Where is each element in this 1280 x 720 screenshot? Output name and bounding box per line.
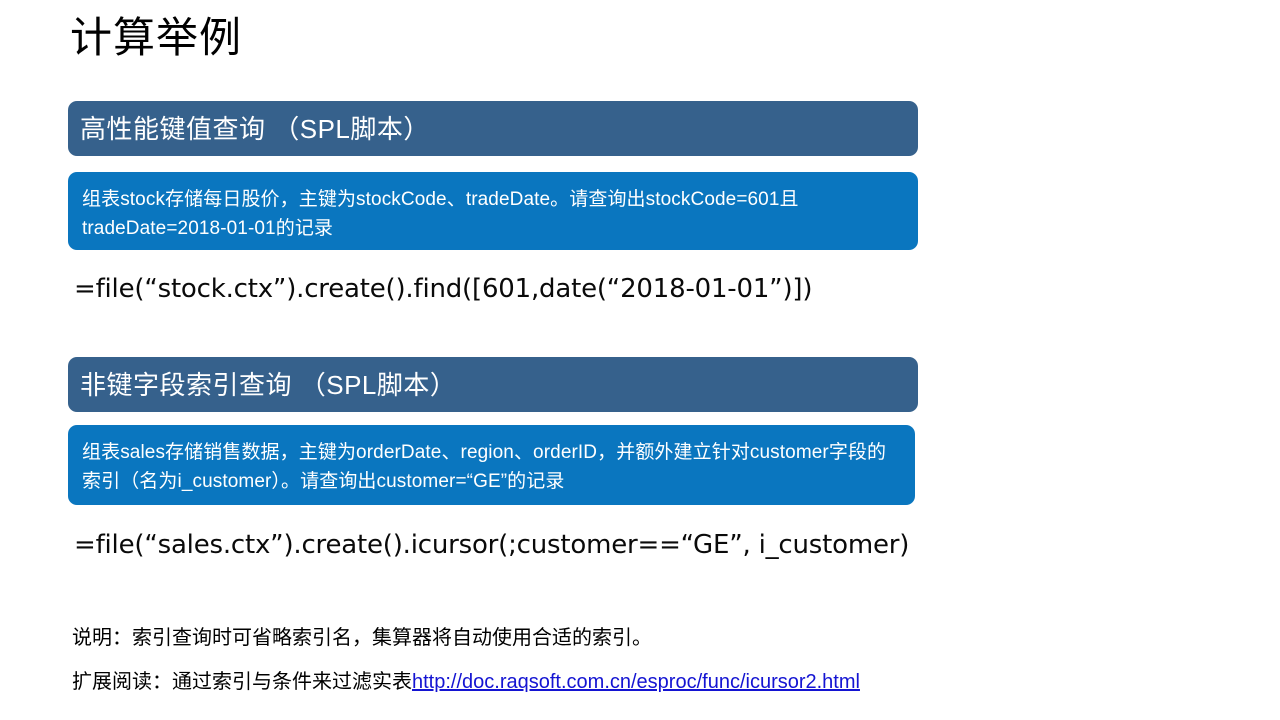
note-explanation: 说明：索引查询时可省略索引名，集算器将自动使用合适的索引。	[72, 624, 652, 652]
description-text: 组表stock存储每日股价，主键为stockCode、tradeDate。请查询…	[82, 185, 904, 243]
description-box-index-query: 组表sales存储销售数据，主键为orderDate、region、orderI…	[68, 425, 915, 505]
code-snippet-key-value-query: =file(“stock.ctx”).create().find([601,da…	[74, 272, 812, 306]
note-further-reading: 扩展阅读：通过索引与条件来过滤实表http://doc.raqsoft.com.…	[72, 668, 860, 696]
note-further-reading-link[interactable]: http://doc.raqsoft.com.cn/esproc/func/ic…	[412, 671, 860, 693]
note-further-reading-label: 扩展阅读：通过索引与条件来过滤实表	[72, 671, 412, 693]
description-box-key-value-query: 组表stock存储每日股价，主键为stockCode、tradeDate。请查询…	[68, 172, 918, 250]
section-header-key-value-query: 高性能键值查询 （SPL脚本）	[68, 101, 918, 156]
code-snippet-index-query: =file(“sales.ctx”).create().icursor(;cus…	[74, 528, 909, 562]
page-title: 计算举例	[70, 8, 242, 68]
slide-canvas: 计算举例 高性能键值查询 （SPL脚本） 组表stock存储每日股价，主键为st…	[0, 0, 1280, 720]
description-text: 组表sales存储销售数据，主键为orderDate、region、orderI…	[82, 438, 901, 496]
section-header-label: 非键字段索引查询 （SPL脚本）	[80, 370, 456, 400]
section-header-label: 高性能键值查询 （SPL脚本）	[80, 114, 430, 144]
section-header-index-query: 非键字段索引查询 （SPL脚本）	[68, 357, 918, 412]
